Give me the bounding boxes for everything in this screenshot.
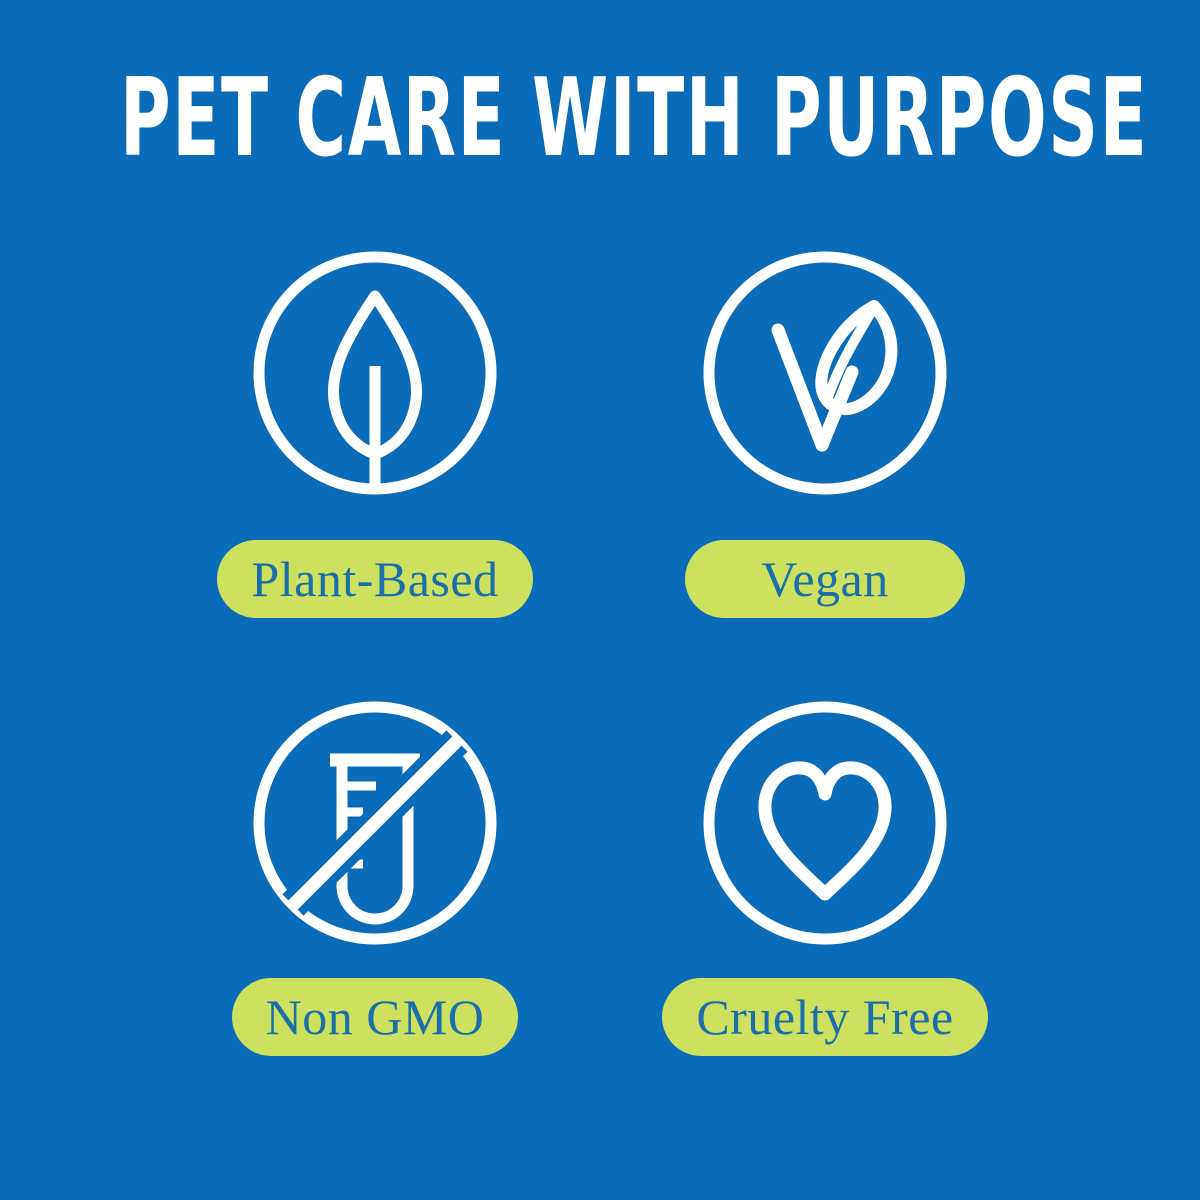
v-leaf-in-circle-icon xyxy=(700,248,950,498)
badge-label-pill[interactable]: Vegan xyxy=(685,540,965,618)
heart-in-circle-icon xyxy=(700,698,950,948)
badge-label-text: Non GMO xyxy=(266,992,485,1042)
badge-vegan[interactable]: Vegan xyxy=(600,248,1050,668)
badge-cruelty-free[interactable]: Cruelty Free xyxy=(600,698,1050,1118)
badge-plant-based[interactable]: Plant-Based xyxy=(150,248,600,668)
badge-label-text: Vegan xyxy=(761,554,888,604)
badge-label-text: Cruelty Free xyxy=(696,992,953,1042)
badge-label-pill[interactable]: Plant-Based xyxy=(217,540,532,618)
no-test-tube-icon xyxy=(250,698,500,948)
poster-canvas: PET CARE WITH PURPOSE Plant-Based xyxy=(0,0,1200,1200)
page-title: PET CARE WITH PURPOSE xyxy=(120,60,1080,176)
badge-label-pill[interactable]: Cruelty Free xyxy=(662,978,987,1056)
badge-non-gmo[interactable]: Non GMO xyxy=(150,698,600,1118)
badge-label-text: Plant-Based xyxy=(251,554,498,604)
badge-grid: Plant-Based Vegan xyxy=(150,248,1050,1118)
leaf-in-circle-icon xyxy=(250,248,500,498)
badge-label-pill[interactable]: Non GMO xyxy=(232,978,519,1056)
